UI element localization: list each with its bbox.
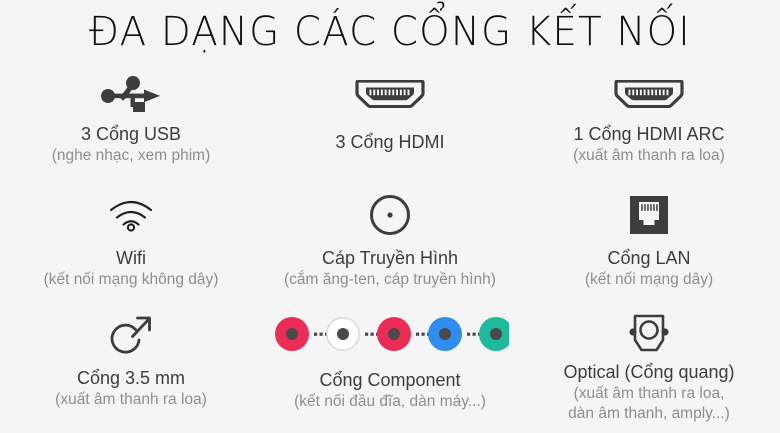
feature-label: 3 Cổng HDMI <box>262 130 518 154</box>
feature-label: Cổng 3.5 mm <box>0 366 262 390</box>
feature-card-wifi: Wifi (kết nối mạng không dây) <box>0 190 262 310</box>
feature-card-lan: Cổng LAN (kết nối mạng dây) <box>518 190 780 310</box>
feature-sublabel: (nghe nhạc, xem phim) <box>0 146 262 166</box>
connectivity-infographic: ĐA DẠNG CÁC CỔNG KẾT NỐI <box>0 0 780 433</box>
feature-sublabel: (kết nối đầu đĩa, dàn máy...) <box>262 392 518 412</box>
features-grid: 3 Cổng USB (nghe nhạc, xem phim) <box>0 70 780 433</box>
component-port <box>377 317 411 351</box>
optical-port-icon <box>624 312 674 356</box>
feature-card-coaxial: Cáp Truyền Hình (cắm ăng-ten, cáp truyền… <box>262 190 518 310</box>
usb-icon <box>100 72 162 116</box>
feature-card-usb: 3 Cổng USB (nghe nhạc, xem phim) <box>0 70 262 190</box>
feature-label: 1 Cổng HDMI ARC <box>518 122 780 146</box>
feature-sublabel: (xuất âm thanh ra loa) <box>0 390 262 410</box>
usb-labels: 3 Cổng USB (nghe nhạc, xem phim) <box>0 122 262 166</box>
feature-sublabel: (xuất âm thanh ra loa) <box>518 146 780 166</box>
component-ports-icon <box>271 312 509 356</box>
feature-card-hdmi: 3 Cổng HDMI <box>262 70 518 190</box>
feature-sublabel: (kết nối mạng không dây) <box>0 270 262 290</box>
hdmi-labels: 3 Cổng HDMI <box>262 130 518 154</box>
component-port <box>428 317 462 351</box>
feature-label: Cổng Component <box>262 368 518 392</box>
component-labels: Cổng Component (kết nối đầu đĩa, dàn máy… <box>262 368 518 412</box>
hdmi-arc-labels: 1 Cổng HDMI ARC (xuất âm thanh ra loa) <box>518 122 780 166</box>
feature-sublabel: (cắm ăng-ten, cáp truyền hình) <box>262 270 518 290</box>
feature-label: 3 Cổng USB <box>0 122 262 146</box>
feature-card-audio-jack: Cổng 3.5 mm (xuất âm thanh ra loa) <box>0 310 262 433</box>
feature-card-hdmi-arc: 1 Cổng HDMI ARC (xuất âm thanh ra loa) <box>518 70 780 190</box>
hdmi-arc-port-icon <box>611 72 687 116</box>
optical-labels: Optical (Cổng quang) (xuất âm thanh ra l… <box>518 360 780 424</box>
component-port <box>275 317 309 351</box>
feature-card-optical: Optical (Cổng quang) (xuất âm thanh ra l… <box>518 310 780 433</box>
feature-label: Cáp Truyền Hình <box>262 246 518 270</box>
hdmi-port-icon <box>352 72 428 116</box>
feature-label: Cổng LAN <box>518 246 780 270</box>
wifi-labels: Wifi (kết nối mạng không dây) <box>0 246 262 290</box>
feature-label: Optical (Cổng quang) <box>518 360 780 384</box>
coaxial-antenna-icon <box>368 192 412 238</box>
feature-sublabel-line2: dàn âm thanh, amply...) <box>518 404 780 424</box>
audio-jack-labels: Cổng 3.5 mm (xuất âm thanh ra loa) <box>0 366 262 410</box>
page-title: ĐA DẠNG CÁC CỔNG KẾT NỐI <box>12 6 769 58</box>
lan-labels: Cổng LAN (kết nối mạng dây) <box>518 246 780 290</box>
component-port <box>479 317 509 351</box>
wifi-icon <box>108 192 154 238</box>
feature-sublabel-line1: (xuất âm thanh ra loa, <box>518 384 780 404</box>
feature-card-component: Cổng Component (kết nối đầu đĩa, dàn máy… <box>262 310 518 433</box>
audio-jack-icon <box>108 312 154 360</box>
coaxial-labels: Cáp Truyền Hình (cắm ăng-ten, cáp truyền… <box>262 246 518 290</box>
feature-sublabel: (kết nối mạng dây) <box>518 270 780 290</box>
feature-label: Wifi <box>0 246 262 270</box>
lan-port-icon <box>628 192 670 238</box>
component-port <box>327 318 359 350</box>
